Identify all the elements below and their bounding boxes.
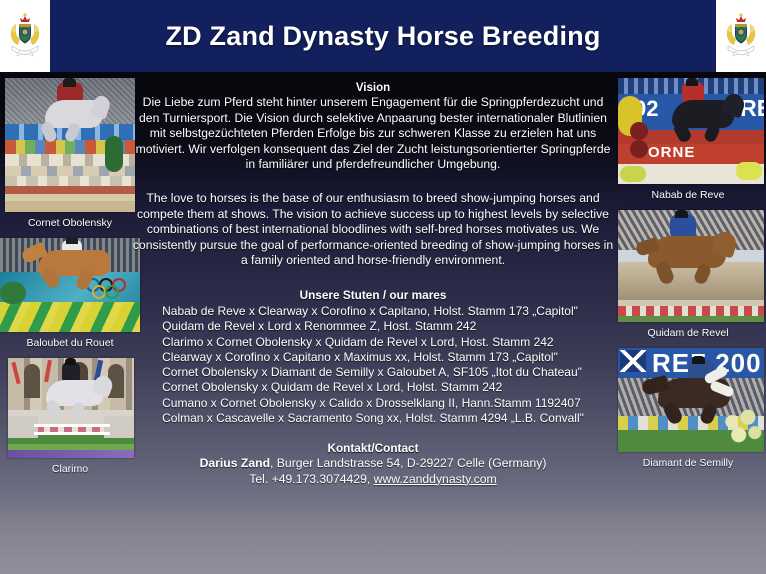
right-photo-column: 02 JEREZ ORNE Nabab de Reve bbox=[610, 78, 766, 478]
list-item: Nabab de Reve x Clearway x Corofino x Ca… bbox=[162, 304, 584, 319]
photo-caption: Baloubet du Rouet bbox=[0, 332, 140, 358]
contact-address-line: Darius Zand, Burger Landstrasse 54, D-29… bbox=[132, 456, 614, 472]
list-item: Colman x Cascavelle x Sacramento Song xx… bbox=[162, 411, 584, 426]
mares-section: Unsere Stuten / our mares Nabab de Reve … bbox=[132, 288, 614, 427]
photo-cornet-obolensky bbox=[5, 78, 135, 212]
list-item: Cumano x Cornet Obolensky x Calido x Dro… bbox=[162, 396, 584, 411]
left-photo-column: Cornet Obolensky bbox=[0, 78, 140, 484]
contact-name: Darius Zand bbox=[200, 456, 270, 470]
list-item: Quidam de Revel x Lord x Renommee Z, Hos… bbox=[162, 319, 584, 334]
contact-address: , Burger Landstrasse 54, D-29227 Celle (… bbox=[270, 456, 546, 470]
photo-caption: Clarimo bbox=[0, 458, 140, 484]
website-link[interactable]: www.zanddynasty.com bbox=[374, 472, 497, 486]
photo-caption: Diamant de Semilly bbox=[610, 452, 766, 478]
vision-section-english: The love to horses is the base of our en… bbox=[132, 191, 614, 269]
photo-caption: Nabab de Reve bbox=[610, 184, 766, 210]
list-item: Clearway x Corofino x Capitano x Maximus… bbox=[162, 350, 584, 365]
coat-of-arms-logo-right bbox=[716, 0, 766, 72]
page-title: ZD Zand Dynasty Horse Breeding bbox=[50, 0, 716, 72]
coat-of-arms-icon bbox=[723, 11, 759, 61]
photo-item: 02 JEREZ ORNE Nabab de Reve bbox=[610, 78, 766, 210]
photo-caption: Cornet Obolensky bbox=[0, 212, 140, 238]
contact-phone: Tel. +49.173.3074429, bbox=[249, 472, 373, 486]
mares-list: Nabab de Reve x Clearway x Corofino x Ca… bbox=[162, 304, 584, 426]
list-item: Cornet Obolensky x Diamant de Semilly x … bbox=[162, 365, 584, 380]
vision-text-english: The love to horses is the base of our en… bbox=[132, 191, 614, 269]
vision-section: Vision Die Liebe zum Pferd steht hinter … bbox=[132, 82, 614, 173]
contact-title: Kontakt/Contact bbox=[132, 441, 614, 455]
contact-phone-line: Tel. +49.173.3074429, www.zanddynasty.co… bbox=[132, 472, 614, 488]
vision-text-german: Die Liebe zum Pferd steht hinter unserem… bbox=[132, 95, 614, 173]
photo-item: Quidam de Revel bbox=[610, 210, 766, 348]
main-text-column: Vision Die Liebe zum Pferd steht hinter … bbox=[132, 82, 614, 487]
poster-canvas: ZD Zand Dynasty Horse Breeding bbox=[0, 0, 766, 574]
photo-item: Cornet Obolensky bbox=[0, 78, 140, 238]
header-band: ZD Zand Dynasty Horse Breeding bbox=[0, 0, 766, 72]
photo-diamant-de-semilly: REZ 200 bbox=[618, 348, 764, 452]
photo-item: Clarimo bbox=[0, 358, 140, 484]
photo-baloubet-du-rouet bbox=[0, 238, 140, 332]
coat-of-arms-icon bbox=[7, 11, 43, 61]
photo-clarimo bbox=[8, 358, 134, 458]
list-item: Clarimo x Cornet Obolensky x Quidam de R… bbox=[162, 335, 584, 350]
mares-title: Unsere Stuten / our mares bbox=[132, 288, 614, 302]
list-item: Cornet Obolensky x Quidam de Revel x Lor… bbox=[162, 380, 584, 395]
photo-quidam-de-revel bbox=[618, 210, 764, 322]
photo-item: REZ 200 Diamant de Semilly bbox=[610, 348, 766, 478]
photo-item: Baloubet du Rouet bbox=[0, 238, 140, 358]
photo-nabab-de-reve: 02 JEREZ ORNE bbox=[618, 78, 764, 184]
photo-caption: Quidam de Revel bbox=[610, 322, 766, 348]
contact-section: Kontakt/Contact Darius Zand, Burger Land… bbox=[132, 441, 614, 487]
vision-title: Vision bbox=[132, 82, 614, 94]
coat-of-arms-logo-left bbox=[0, 0, 50, 72]
